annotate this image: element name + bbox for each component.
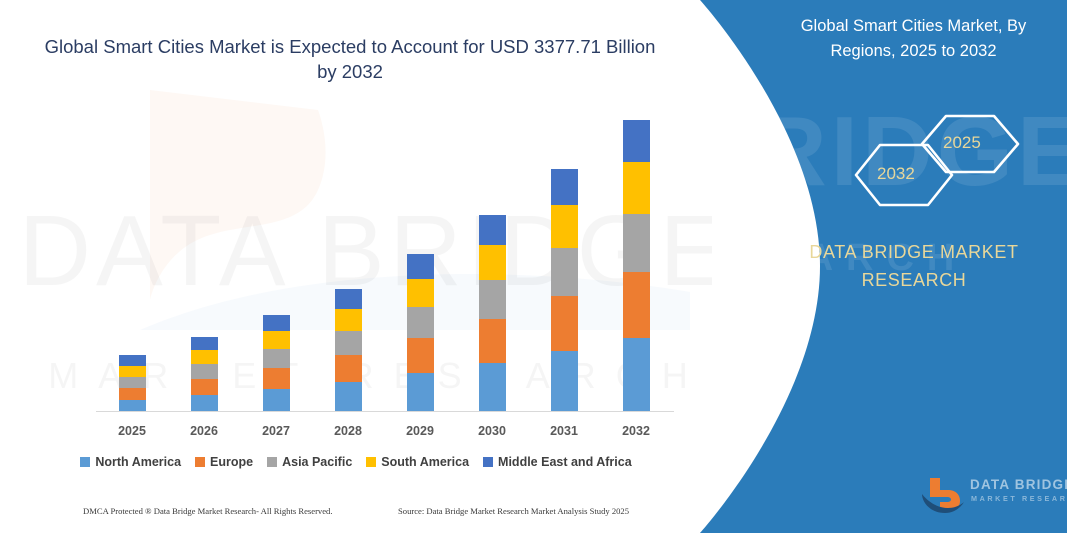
- bar-column-2026: [191, 337, 218, 412]
- panel-title: Global Smart Cities Market, By Regions, …: [770, 14, 1057, 64]
- bar-column-2030: [479, 215, 506, 412]
- bar-segment: [263, 315, 290, 331]
- bar-segment: [119, 377, 146, 388]
- bar-segment: [191, 379, 218, 395]
- bar-segment: [407, 254, 434, 279]
- bar-column-2025: [119, 355, 146, 412]
- footer-source: Source: Data Bridge Market Research Mark…: [398, 506, 629, 516]
- bar-segment: [551, 169, 578, 205]
- bar-segment: [479, 215, 506, 245]
- bar-column-2031: [551, 169, 578, 412]
- bar-segment: [623, 120, 650, 162]
- bar-segment: [335, 309, 362, 331]
- legend-label: South America: [381, 455, 469, 469]
- hexagon-2032-label: 2032: [877, 164, 915, 184]
- hexagon-group: 2025 2032: [760, 100, 1067, 220]
- data-bridge-logo: DATA BRIDGE MARKET RESEARCH: [918, 472, 1058, 516]
- bar-segment: [119, 366, 146, 377]
- x-axis-label-2027: 2027: [246, 424, 306, 438]
- legend-label: Asia Pacific: [282, 455, 352, 469]
- bar-segment: [335, 355, 362, 382]
- logo-mark-icon: [918, 474, 966, 514]
- chart-legend: North AmericaEuropeAsia PacificSouth Ame…: [0, 455, 712, 469]
- x-axis-label-2029: 2029: [390, 424, 450, 438]
- bar-segment: [623, 162, 650, 214]
- bar-segment: [479, 319, 506, 363]
- bar-segment: [263, 349, 290, 368]
- logo-text-main: DATA BRIDGE: [970, 477, 1067, 492]
- legend-label: North America: [95, 455, 181, 469]
- infographic-root: DATA BRIDGE MARKET RESEARCH DATA BRIDGE …: [0, 0, 1067, 533]
- bar-segment: [335, 331, 362, 355]
- bar-segment: [191, 350, 218, 364]
- legend-item[interactable]: Middle East and Africa: [483, 455, 632, 469]
- legend-item[interactable]: Asia Pacific: [267, 455, 352, 469]
- brand-name: DATA BRIDGE MARKET RESEARCH: [774, 238, 1054, 294]
- legend-swatch-icon: [366, 457, 376, 467]
- x-axis-label-2026: 2026: [174, 424, 234, 438]
- legend-swatch-icon: [267, 457, 277, 467]
- legend-swatch-icon: [80, 457, 90, 467]
- bar-segment: [263, 331, 290, 349]
- bar-segment: [479, 245, 506, 280]
- panel-content: Global Smart Cities Market, By Regions, …: [760, 0, 1067, 533]
- bar-segment: [407, 307, 434, 338]
- bar-segment: [479, 363, 506, 412]
- legend-swatch-icon: [483, 457, 493, 467]
- footer-copyright: DMCA Protected ® Data Bridge Market Rese…: [83, 506, 333, 516]
- x-axis-label-2031: 2031: [534, 424, 594, 438]
- bar-segment: [479, 280, 506, 319]
- legend-label: Middle East and Africa: [498, 455, 632, 469]
- legend-item[interactable]: South America: [366, 455, 469, 469]
- bar-segment: [623, 214, 650, 272]
- bar-segment: [623, 338, 650, 412]
- bar-segment: [407, 373, 434, 412]
- legend-item[interactable]: Europe: [195, 455, 253, 469]
- bar-segment: [335, 382, 362, 412]
- bar-segment: [551, 205, 578, 248]
- bar-segment: [551, 248, 578, 296]
- brand-line-1: DATA BRIDGE MARKET: [774, 238, 1054, 266]
- left-content-pane: DATA BRIDGE MARKET RESEARCH Global Smart…: [0, 0, 712, 533]
- brand-line-2: RESEARCH: [774, 266, 1054, 294]
- bar-segment: [407, 338, 434, 373]
- x-axis-line: [96, 411, 674, 412]
- legend-swatch-icon: [195, 457, 205, 467]
- x-axis-label-2025: 2025: [102, 424, 162, 438]
- bar-segment: [263, 368, 290, 389]
- bar-column-2032: [623, 120, 650, 412]
- bar-segment: [191, 364, 218, 379]
- bar-segment: [263, 389, 290, 412]
- x-axis-label-2032: 2032: [606, 424, 666, 438]
- bar-segment: [119, 355, 146, 366]
- bar-segment: [623, 272, 650, 338]
- bar-segment: [407, 279, 434, 307]
- bar-segment: [119, 388, 146, 400]
- bar-segment: [335, 289, 362, 309]
- legend-label: Europe: [210, 455, 253, 469]
- page-title: Global Smart Cities Market is Expected t…: [40, 34, 660, 84]
- bar-segment: [551, 296, 578, 351]
- hexagon-2025-label: 2025: [943, 133, 981, 153]
- bar-column-2028: [335, 289, 362, 412]
- x-axis-labels: 20252026202720282029203020312032: [96, 424, 674, 442]
- legend-item[interactable]: North America: [80, 455, 181, 469]
- logo-text-sub: MARKET RESEARCH: [971, 494, 1067, 503]
- bar-column-2027: [263, 315, 290, 412]
- x-axis-label-2028: 2028: [318, 424, 378, 438]
- bar-column-2029: [407, 254, 434, 412]
- stacked-bar-chart: [96, 120, 672, 412]
- x-axis-label-2030: 2030: [462, 424, 522, 438]
- bar-segment: [191, 395, 218, 412]
- bar-segment: [191, 337, 218, 350]
- hexagon-shapes: [760, 100, 1067, 220]
- bar-segment: [551, 351, 578, 412]
